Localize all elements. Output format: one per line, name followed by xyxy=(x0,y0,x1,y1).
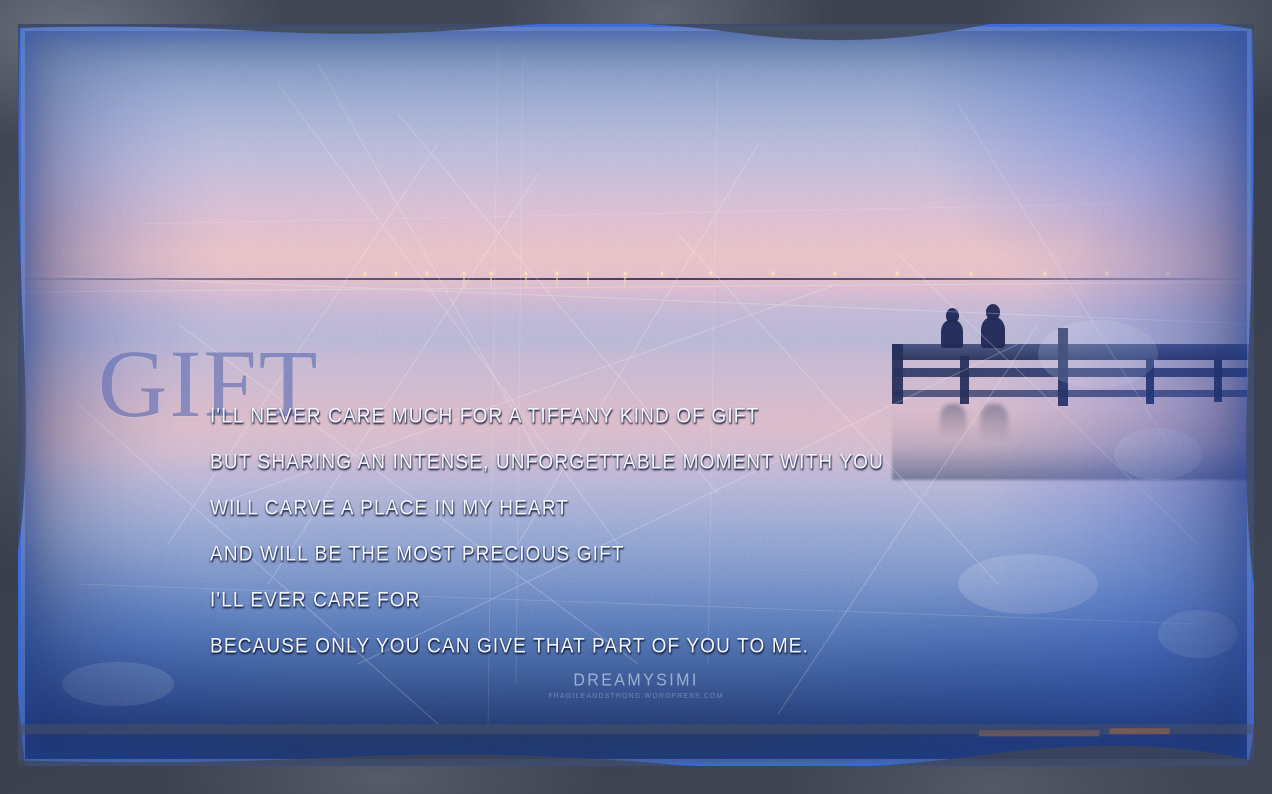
figure-water-reflection xyxy=(940,404,966,438)
poem-line: I'LL EVER CARE FOR xyxy=(210,575,910,627)
photograph: GIFT I'LL NEVER CARE MUCH FOR A TIFFANY … xyxy=(18,24,1254,766)
poem-line: BECAUSE ONLY YOU CAN GIVE THAT PART OF Y… xyxy=(210,621,910,673)
pier xyxy=(878,292,1254,472)
pier-post xyxy=(1146,358,1154,404)
poem-block: I'LL NEVER CARE MUCH FOR A TIFFANY KIND … xyxy=(210,394,910,670)
poem-line: WILL CARVE A PLACE IN MY HEART xyxy=(210,483,910,535)
pier-rail-top xyxy=(894,368,1254,377)
silhouette-figure-left-body xyxy=(941,320,963,348)
poem-line: I'LL NEVER CARE MUCH FOR A TIFFANY KIND … xyxy=(210,391,910,443)
pier-post xyxy=(1214,360,1222,402)
poem-line: AND WILL BE THE MOST PRECIOUS GIFT xyxy=(210,529,910,581)
pier-post xyxy=(1058,328,1068,406)
distant-city-lights xyxy=(18,272,1254,284)
poem-line: BUT SHARING AN INTENSE, UNFORGETTABLE MO… xyxy=(210,437,910,489)
silhouette-figure-right-body xyxy=(981,317,1005,348)
pier-post xyxy=(960,356,969,404)
pier-rail-middle xyxy=(894,390,1254,397)
figure-water-reflection xyxy=(980,404,1008,442)
artwork-canvas: GIFT I'LL NEVER CARE MUCH FOR A TIFFANY … xyxy=(0,0,1272,794)
